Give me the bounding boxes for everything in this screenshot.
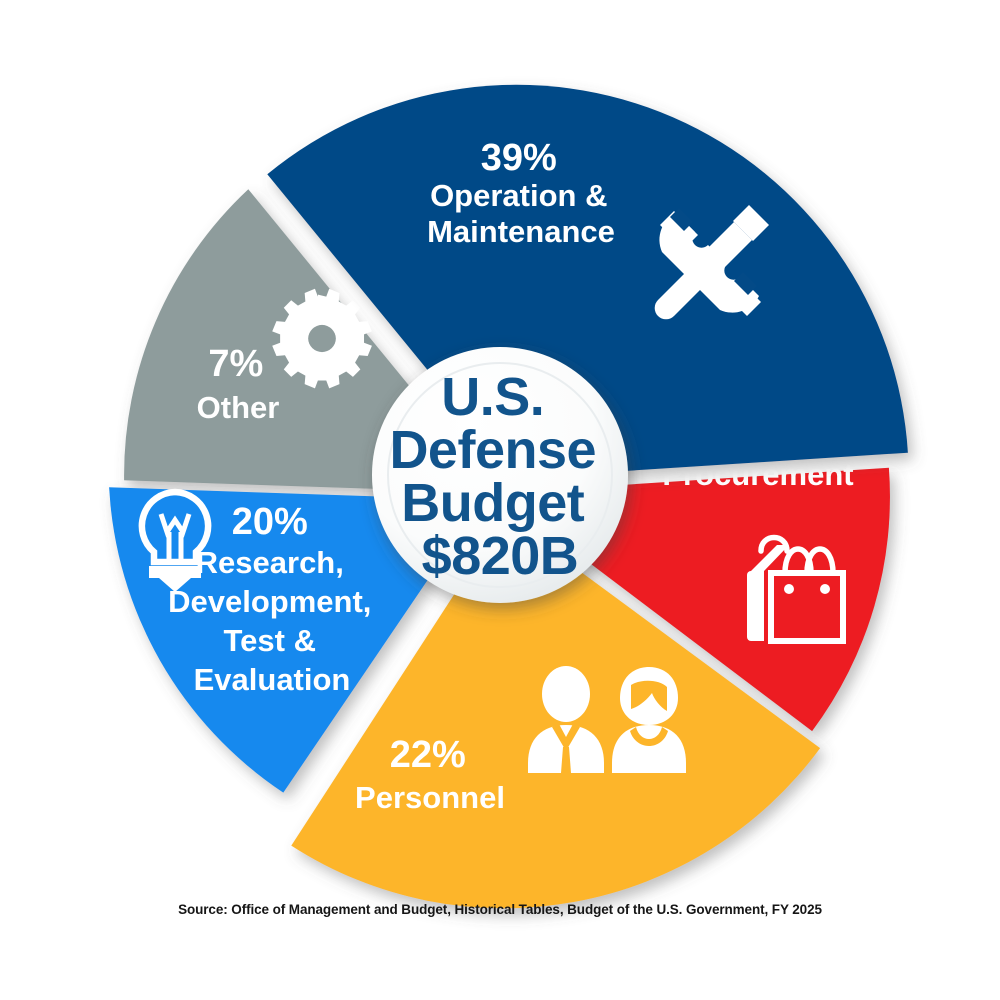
center-hub: U.S. Defense Budget $820B [372, 347, 628, 603]
hub-title-line-3: $820B [422, 526, 579, 586]
source-attribution: Source: Office of Management and Budget,… [0, 902, 1000, 917]
pie-slice-om-name-line-0: Operation & [430, 178, 607, 213]
pie-slice-personnel-name-line-0: Personnel [355, 780, 505, 815]
hub-title-line-0: U.S. [441, 367, 544, 427]
pie-slice-om-name-line-1: Maintenance [427, 214, 615, 249]
hub-title-line-2: Budget [401, 473, 584, 533]
pie-slice-rdte-name-line-2: Test & [224, 623, 316, 658]
pie-slice-other-name-line-0: Other [197, 390, 280, 425]
pie-slice-personnel-percent: 22% [390, 734, 466, 776]
infographic-canvas: 7% Other 17% [0, 0, 1000, 1000]
pie-slice-rdte-percent: 20% [232, 501, 308, 543]
pie-slice-other-percent: 7% [208, 343, 263, 385]
pie-slice-rdte-name-line-0: Research, [196, 545, 344, 580]
hub-title-line-1: Defense [389, 420, 596, 480]
pie-slice-om-percent: 39% [481, 137, 557, 179]
defense-budget-pie-chart: 7% Other 17% [0, 0, 1000, 1000]
pie-slice-rdte-name-line-3: Evaluation [194, 662, 351, 697]
pie-slice-rdte-name-line-1: Development, [168, 584, 371, 619]
